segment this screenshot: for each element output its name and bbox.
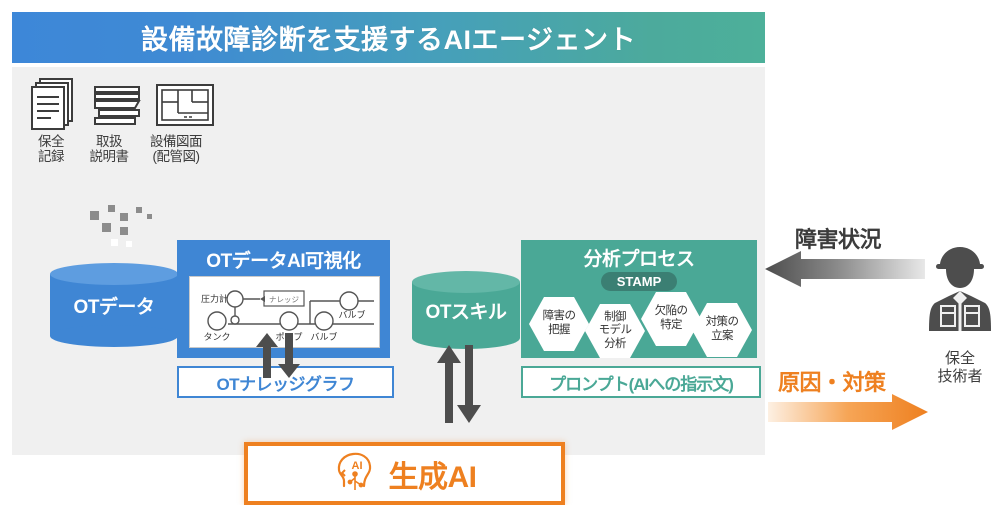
analysis-step-2: 制御モデル分析: [585, 304, 645, 358]
source-documents-group: 保全記録 取扱説明書 設備図面(配管図): [22, 75, 222, 164]
generative-ai-box[interactable]: AI 生成AI: [244, 442, 565, 505]
title-bar: 設備故障診断を支援するAIエージェント: [12, 12, 765, 63]
maintenance-engineer-icon: [925, 243, 995, 343]
svg-text:ナレッジ: ナレッジ: [269, 295, 299, 304]
manual-book-icon: [91, 75, 143, 131]
outgoing-flow-label: 原因・対策: [778, 365, 886, 397]
ai-head-icon: AI: [333, 450, 375, 497]
analysis-process-header: 分析プロセス: [521, 240, 757, 271]
source-label-maintenance-record: 保全記録: [24, 134, 78, 164]
page-title: 設備故障診断を支援するAIエージェント: [141, 18, 636, 57]
analysis-step-3: 欠陥の特定: [641, 292, 701, 346]
stamp-badge: STAMP: [601, 272, 677, 291]
outgoing-flow-arrow: [768, 394, 928, 435]
analysis-step-1: 障害の把握: [529, 297, 589, 351]
analysis-process-panel: 分析プロセス STAMP 障害の把握 制御モデル分析 欠陥の特定 対策の立案: [521, 240, 757, 358]
maintenance-engineer-label: 保全技術者: [915, 350, 1000, 386]
analysis-step-4: 対策の立案: [692, 303, 752, 357]
blueprint-icon: [154, 75, 206, 131]
ot-skill-cylinder: OTスキル: [412, 271, 520, 349]
data-particles: [84, 205, 164, 249]
ot-skill-label: OTスキル: [412, 271, 520, 349]
diagram-canvas: 設備故障診断を支援するAIエージェント: [0, 0, 1000, 471]
blue-panel-arrows: [255, 333, 315, 383]
ot-data-cylinder: OTデータ: [50, 263, 178, 347]
ot-data-label: OTデータ: [50, 263, 178, 347]
documents-icon: [28, 75, 80, 131]
source-label-blueprint: 設備図面(配管図): [140, 134, 212, 164]
svg-text:AI: AI: [351, 460, 362, 472]
ot-skill-arrows: [432, 345, 488, 428]
generative-ai-label: 生成AI: [389, 452, 477, 496]
svg-text:タンク: タンク: [203, 332, 230, 342]
svg-text:バルブ: バルブ: [338, 309, 365, 320]
source-label-manual: 取扱説明書: [82, 134, 136, 164]
prompt-caption: プロンプト(AIへの指示文): [521, 366, 761, 398]
incoming-flow-label: 障害状況: [795, 222, 881, 254]
incoming-flow-arrow: [765, 251, 925, 292]
svg-text:圧力計: 圧力計: [201, 293, 228, 304]
main-panel: 保全記録 取扱説明書 設備図面(配管図): [12, 67, 765, 455]
analysis-steps: 障害の把握 制御モデル分析 欠陥の特定 対策の立案: [521, 293, 757, 349]
ot-visualization-header: OTデータAI可視化: [177, 240, 390, 273]
